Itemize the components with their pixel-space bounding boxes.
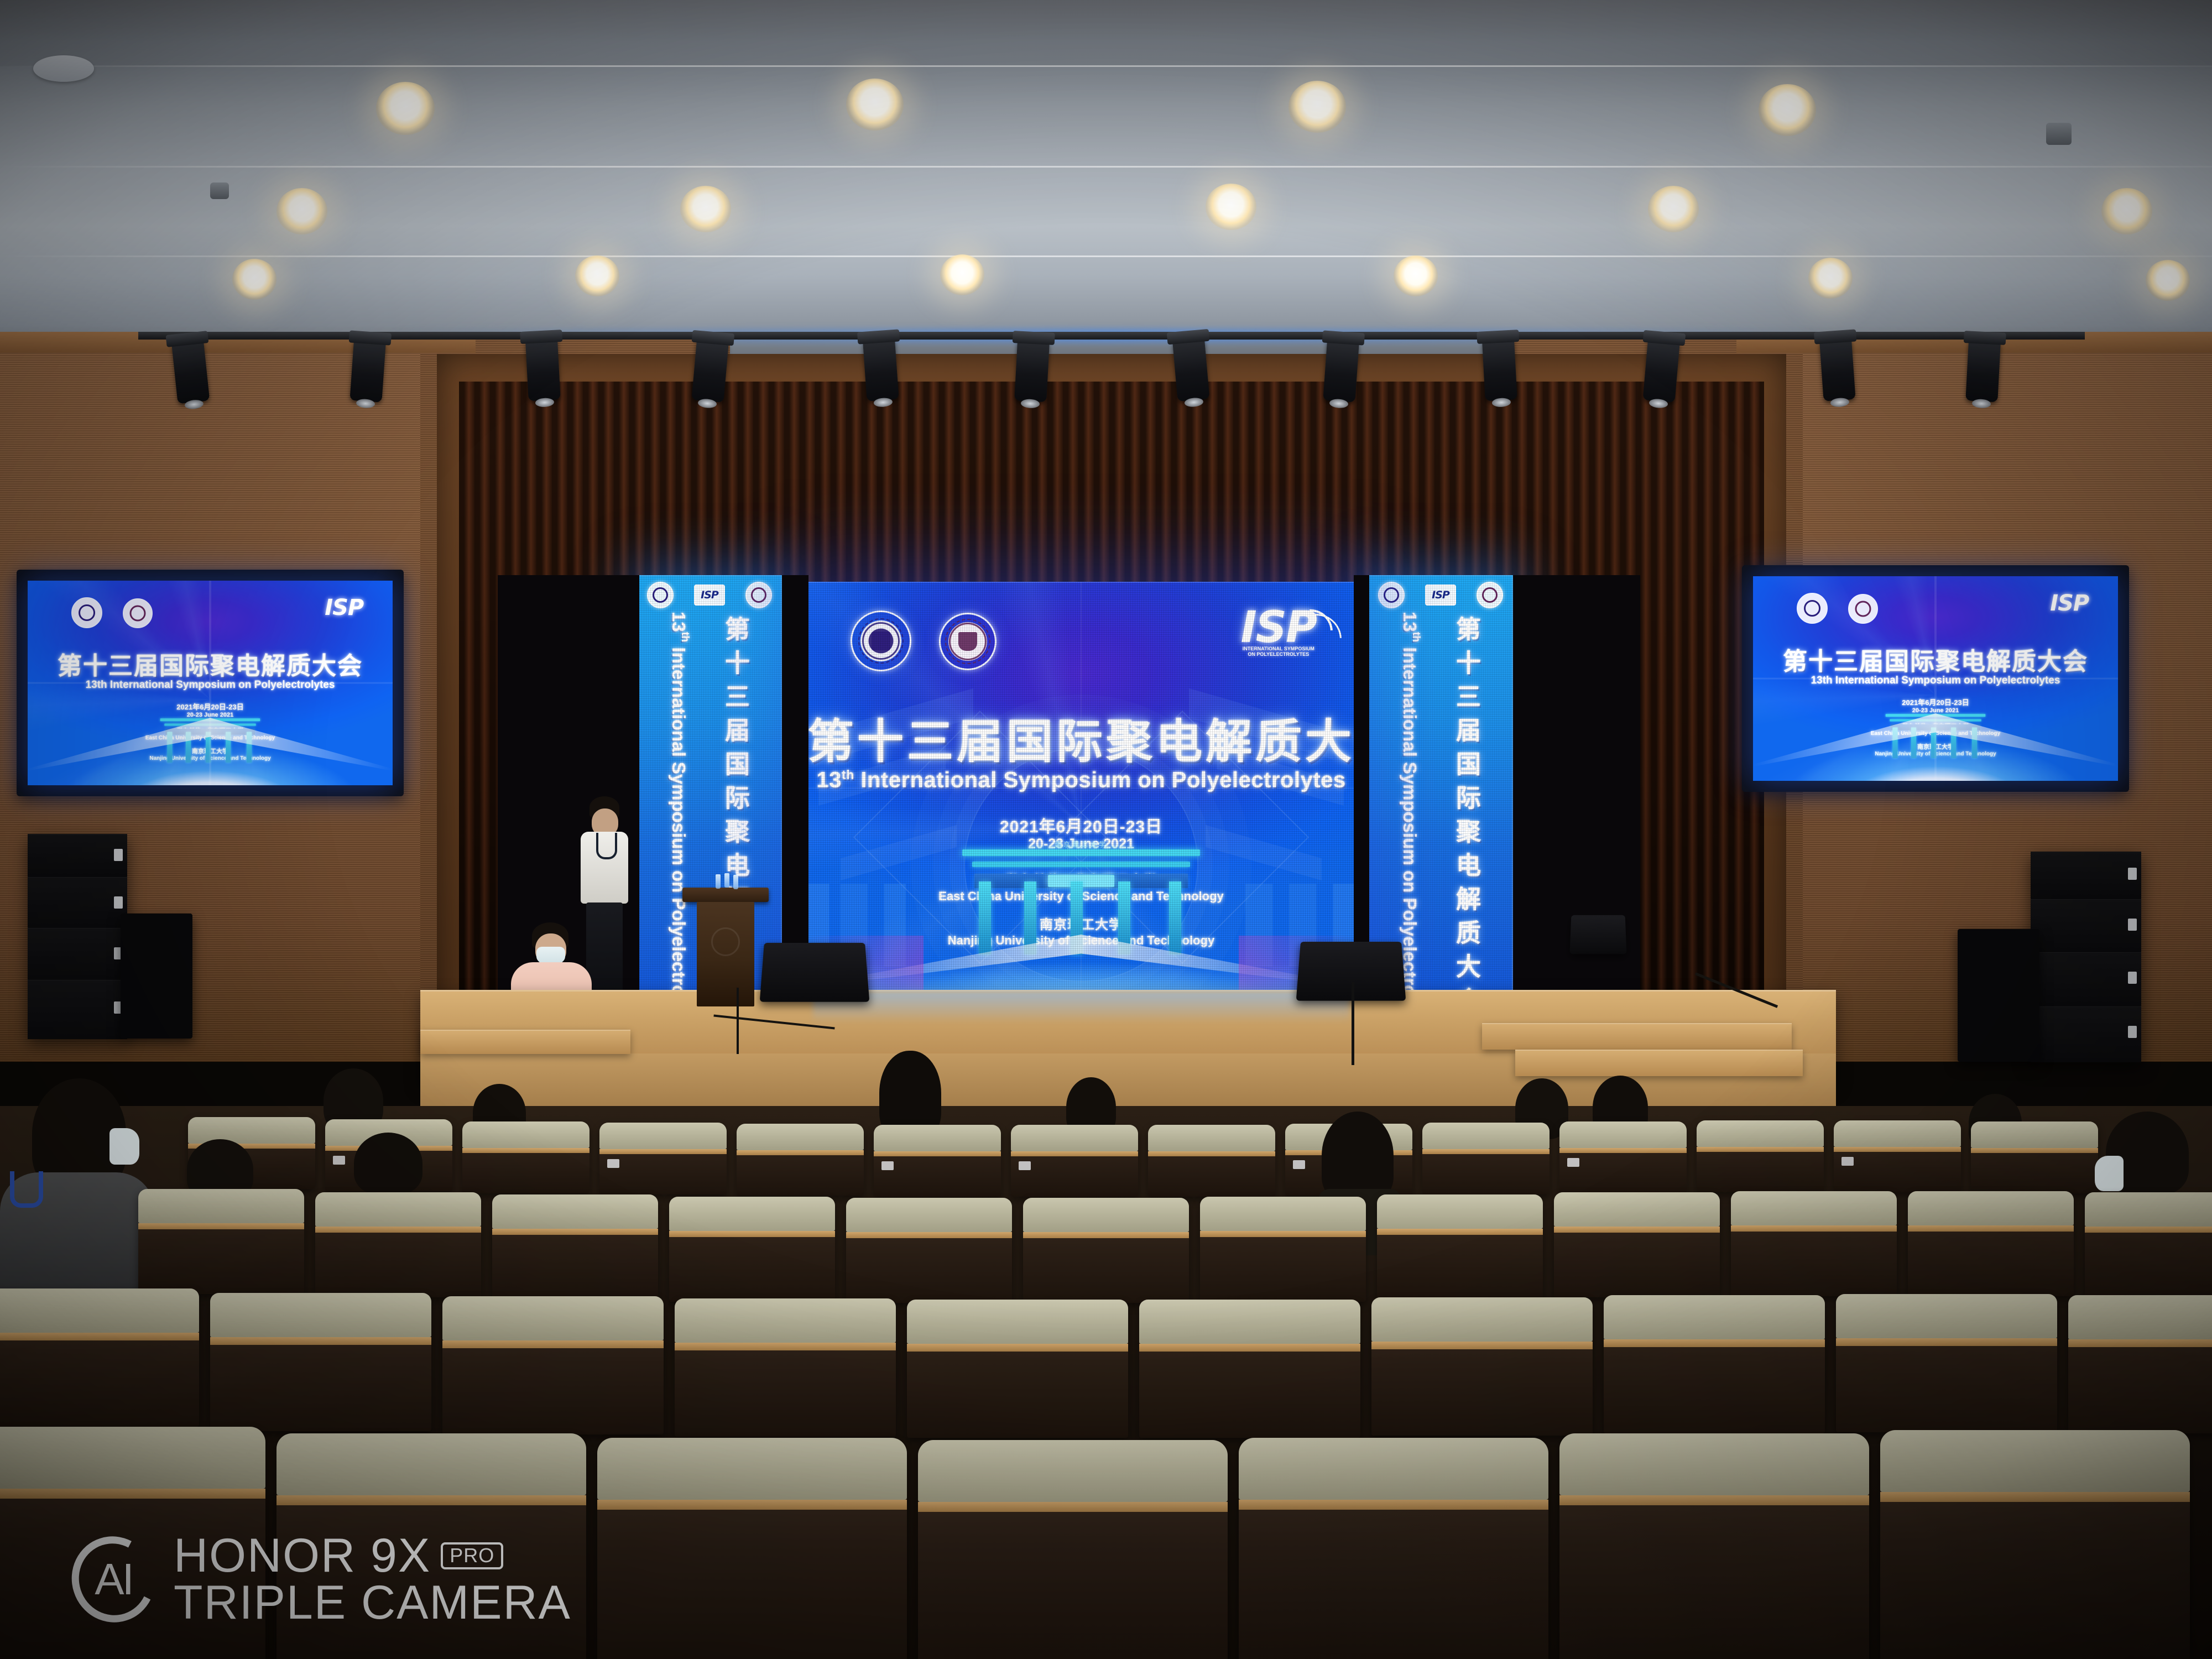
stage-light-fixture — [692, 339, 729, 403]
wall-tv-right-date-cn: 2021年6月20日-23日 — [1753, 697, 2118, 707]
auditorium-seat — [0, 1288, 199, 1427]
auditorium-seat — [918, 1440, 1228, 1659]
stage-monitor-wedge — [760, 943, 870, 1002]
auditorium-seat — [874, 1125, 1001, 1197]
podium-emblem-icon — [711, 927, 740, 956]
stage-light-fixture — [349, 340, 386, 403]
auditorium-seat — [1200, 1197, 1366, 1302]
auditorium-seat — [1559, 1121, 1687, 1193]
auditorium-seat — [1239, 1438, 1548, 1659]
auditorium-seat — [1148, 1125, 1275, 1197]
wall-tv-left: ISP 第十三届国际聚电解质大会 13th International Symp… — [17, 570, 404, 796]
auditorium-seat — [462, 1121, 589, 1193]
watermark-device-label: HONOR 9X — [174, 1532, 431, 1579]
wall-tv-left-date-cn: 2021年6月20日-23日 — [28, 701, 393, 712]
ceiling-downlight — [2146, 260, 2190, 301]
auditorium-seat — [492, 1194, 658, 1300]
lighting-truss — [138, 332, 2085, 340]
university-seal-right-icon — [745, 582, 772, 608]
ceiling-downlight — [376, 82, 435, 135]
ceiling-downlight — [1394, 255, 1438, 296]
ai-badge-icon: AI — [72, 1536, 155, 1623]
university-seal-right-icon — [123, 598, 153, 628]
stage-light-fixture — [1965, 340, 2001, 402]
wall-tv-right-host2-en: Nanjing University of Science and Techno… — [1753, 751, 2118, 757]
auditorium-seat — [1604, 1295, 1825, 1433]
auditorium-seat — [675, 1298, 896, 1437]
auditorium-seat — [1731, 1191, 1897, 1296]
ceiling-vent-icon — [33, 55, 94, 82]
watermark-pro-badge: PRO — [441, 1542, 503, 1569]
main-screen-title-en: 13th International Symposium on Polyelec… — [807, 768, 1355, 792]
auditorium-seat — [1971, 1121, 2098, 1193]
seat-number-plate — [1567, 1158, 1579, 1167]
water-bottle — [733, 875, 738, 889]
ceiling-downlight — [575, 255, 619, 296]
auditorium-seat — [1377, 1194, 1543, 1300]
isp-logo-icon: ISP — [325, 595, 363, 620]
main-screen-date-cn: 2021年6月20日-23日 — [807, 813, 1355, 837]
auditorium-seat — [138, 1189, 304, 1294]
auditorium-seat — [2085, 1192, 2212, 1297]
watermark-camera-label: TRIPLE CAMERA — [174, 1579, 571, 1626]
stage-step — [1515, 1050, 1803, 1076]
stage-monitor-wedge — [1570, 915, 1627, 954]
lanyard — [596, 833, 617, 859]
wall-tv-right-screen: ISP 第十三届国际聚电解质大会 13th International Symp… — [1753, 576, 2118, 781]
auditorium-seat — [907, 1300, 1128, 1438]
ceiling-downlight — [2101, 188, 2152, 234]
auditorium-seat — [1834, 1120, 1961, 1192]
ceiling-downlight — [232, 259, 276, 300]
seat-number-plate — [607, 1159, 619, 1168]
seat-number-plate — [1841, 1157, 1854, 1166]
seat-number-plate — [1019, 1161, 1031, 1170]
auditorium-seat — [846, 1198, 1012, 1303]
stage-light-fixture — [1014, 340, 1050, 402]
wall-tv-right: ISP 第十三届国际聚电解质大会 13th International Symp… — [1742, 565, 2129, 792]
university-seal-left-icon — [71, 597, 102, 628]
led-banner-left-logos: ISP — [637, 580, 782, 611]
wall-tv-right-title-en: 13th International Symposium on Polyelec… — [1753, 675, 2118, 687]
ceiling-downlight — [1648, 186, 1699, 232]
wall-tv-left-screen: ISP 第十三届国际聚电解质大会 13th International Symp… — [28, 581, 393, 785]
stage-light-fixture — [1482, 338, 1517, 401]
auditorium-seat — [1139, 1300, 1360, 1438]
ceiling-speaker-icon — [2046, 123, 2072, 145]
ceiling-downlight — [276, 188, 327, 234]
podium-lectern — [692, 888, 759, 1006]
seat-number-plate — [881, 1161, 894, 1170]
stage-step — [1482, 1023, 1792, 1050]
led-banner-right-text-cn: 第十三届国际聚电解质大会 — [1448, 616, 1484, 1006]
auditorium-seat — [1023, 1198, 1189, 1303]
wall-tv-left-host2-en: Nanjing University of Science and Techno… — [28, 755, 393, 761]
microphone-stand — [737, 988, 739, 1054]
auditorium-seat — [210, 1293, 431, 1431]
main-screen-title-cn: 第十三届国际聚电解质大会 — [807, 705, 1355, 771]
university-seal-right-icon — [1848, 594, 1878, 624]
stage-light-fixture — [171, 340, 210, 404]
auditorium-seat — [737, 1124, 864, 1196]
camera-watermark: AI HONOR 9X PRO TRIPLE CAMERA — [72, 1532, 571, 1626]
wall-tv-left-host2-cn: 南京理工大学 — [28, 747, 393, 755]
seat-number-plate — [1293, 1160, 1305, 1169]
main-led-screen: ISP INTERNATIONAL SYMPOSIUM ON POLYELECT… — [807, 582, 1355, 1002]
university-seal-left-icon — [1797, 593, 1828, 624]
university-seal-right-icon — [1477, 582, 1503, 608]
university-seal-right-icon — [939, 613, 997, 670]
face-mask — [109, 1128, 139, 1165]
stage-light-fixture — [863, 338, 899, 401]
wall-tv-left-date-en: 20-23 June 2021 — [28, 712, 393, 718]
microphone-stand — [1352, 982, 1354, 1065]
wall-tv-right-date-en: 20-23 June 2021 — [1753, 707, 2118, 714]
seat-number-plate — [333, 1156, 345, 1165]
ceiling-downlight — [940, 254, 984, 295]
led-banner-right-text-en: 13th International Symposium on Polyelec… — [1399, 612, 1422, 1006]
water-bottle — [716, 874, 721, 889]
stage-monitor-wedge — [1296, 942, 1406, 1001]
auditorium-seat — [442, 1296, 664, 1434]
university-seal-left-icon — [647, 582, 674, 608]
attendee-head — [354, 1133, 422, 1194]
wall-tv-left-title-en: 13th International Symposium on Polyelec… — [28, 679, 393, 691]
led-banner-right-logos: ISP — [1368, 580, 1513, 611]
wall-tv-right-host2-cn: 南京理工大学 — [1753, 742, 2118, 751]
ceiling-downlight — [1808, 258, 1853, 299]
face-mask — [2095, 1156, 2124, 1191]
wall-tv-left-host-en: East China University of Science and Tec… — [28, 735, 393, 741]
ceiling-downlight — [680, 186, 731, 232]
auditorium-seat — [1836, 1294, 2057, 1432]
auditorium-seat — [1554, 1192, 1720, 1297]
auditorium-seat — [1371, 1297, 1593, 1436]
auditorium-seat — [1422, 1123, 1550, 1194]
gate-plaque-label: 南京理工大学 — [1055, 839, 1108, 849]
wall-tv-right-host-cn: 举办单位：华东理工大学 — [1753, 722, 2118, 731]
stage-light-fixture — [1172, 338, 1209, 401]
auditorium-seat — [1559, 1433, 1869, 1659]
isp-logo-icon: ISP — [1425, 585, 1456, 606]
attendee-head — [1322, 1112, 1394, 1200]
line-array-speaker-left — [28, 834, 127, 1039]
university-seal-left-icon — [1378, 582, 1405, 608]
line-array-speaker-right — [2031, 852, 2141, 1062]
auditorium-seat — [1697, 1120, 1824, 1192]
ceiling-downlight — [846, 79, 904, 131]
isp-logo-icon: ISP — [694, 585, 725, 606]
wall-tv-left-host-cn: 举办单位：华东理工大学 — [28, 726, 393, 735]
ceiling-downlight — [1288, 81, 1346, 133]
auditorium-seat — [599, 1123, 727, 1194]
stage-light-fixture — [1819, 338, 1856, 401]
auditorium-seat — [2068, 1295, 2212, 1433]
conference-hall-photo: ISP 第十三届国际聚电解质大会 13th International Symp… — [0, 0, 2212, 1659]
university-seal-left-icon — [851, 611, 911, 671]
stage-light-fixture — [1643, 339, 1680, 403]
isp-logo-icon: ISP — [2050, 591, 2089, 616]
led-banner-left-text-en: 13th International Symposium on Polyelec… — [668, 612, 691, 1006]
ai-badge-label: AI — [72, 1557, 155, 1601]
auditorium-seat — [1908, 1191, 2074, 1296]
auditorium-seat — [669, 1197, 835, 1302]
auditorium-seat — [1880, 1430, 2190, 1659]
lanyard — [10, 1171, 43, 1208]
wall-tv-left-title-cn: 第十三届国际聚电解质大会 — [28, 646, 393, 681]
ceiling-downlight — [1759, 84, 1816, 136]
ceiling-downlight — [1206, 184, 1256, 230]
stage-light-fixture — [525, 338, 561, 401]
wall-tv-right-host-en: East China University of Science and Tec… — [1753, 731, 2118, 737]
isp-logo-icon: ISP INTERNATIONAL SYMPOSIUM ON POLYELECT… — [1241, 606, 1316, 658]
subwoofer-left — [121, 914, 192, 1039]
auditorium-seat — [1011, 1125, 1138, 1197]
main-screen-logo-row: ISP INTERNATIONAL SYMPOSIUM ON POLYELECT… — [807, 608, 1355, 675]
auditorium-seat — [315, 1192, 481, 1297]
auditorium-seat — [597, 1438, 907, 1659]
ceiling-speaker-icon — [210, 182, 229, 199]
water-bottle — [724, 873, 729, 888]
subwoofer-right — [1958, 929, 2039, 1062]
stage-step — [420, 1030, 630, 1054]
stage-light-fixture — [1323, 340, 1359, 403]
wall-tv-right-title-cn: 第十三届国际聚电解质大会 — [1753, 641, 2118, 677]
